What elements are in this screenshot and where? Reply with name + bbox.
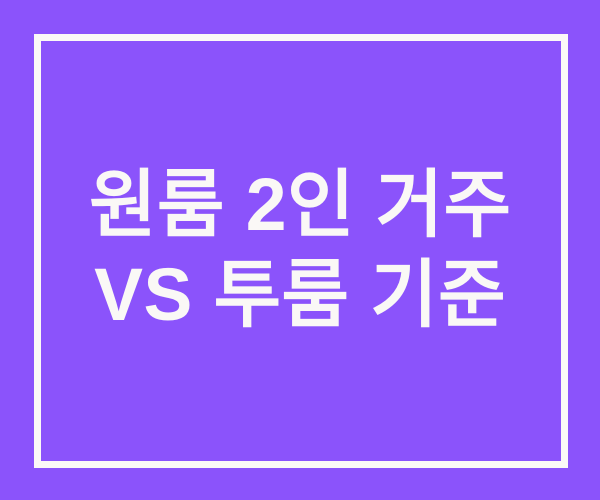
headline-line-2: VS 투룸 기준 xyxy=(94,250,506,340)
poster-card: 원룸 2인 거주 VS 투룸 기준 xyxy=(0,0,600,500)
headline-block: 원룸 2인 거주 VS 투룸 기준 xyxy=(0,160,600,340)
headline-line-1: 원룸 2인 거주 xyxy=(89,160,511,250)
